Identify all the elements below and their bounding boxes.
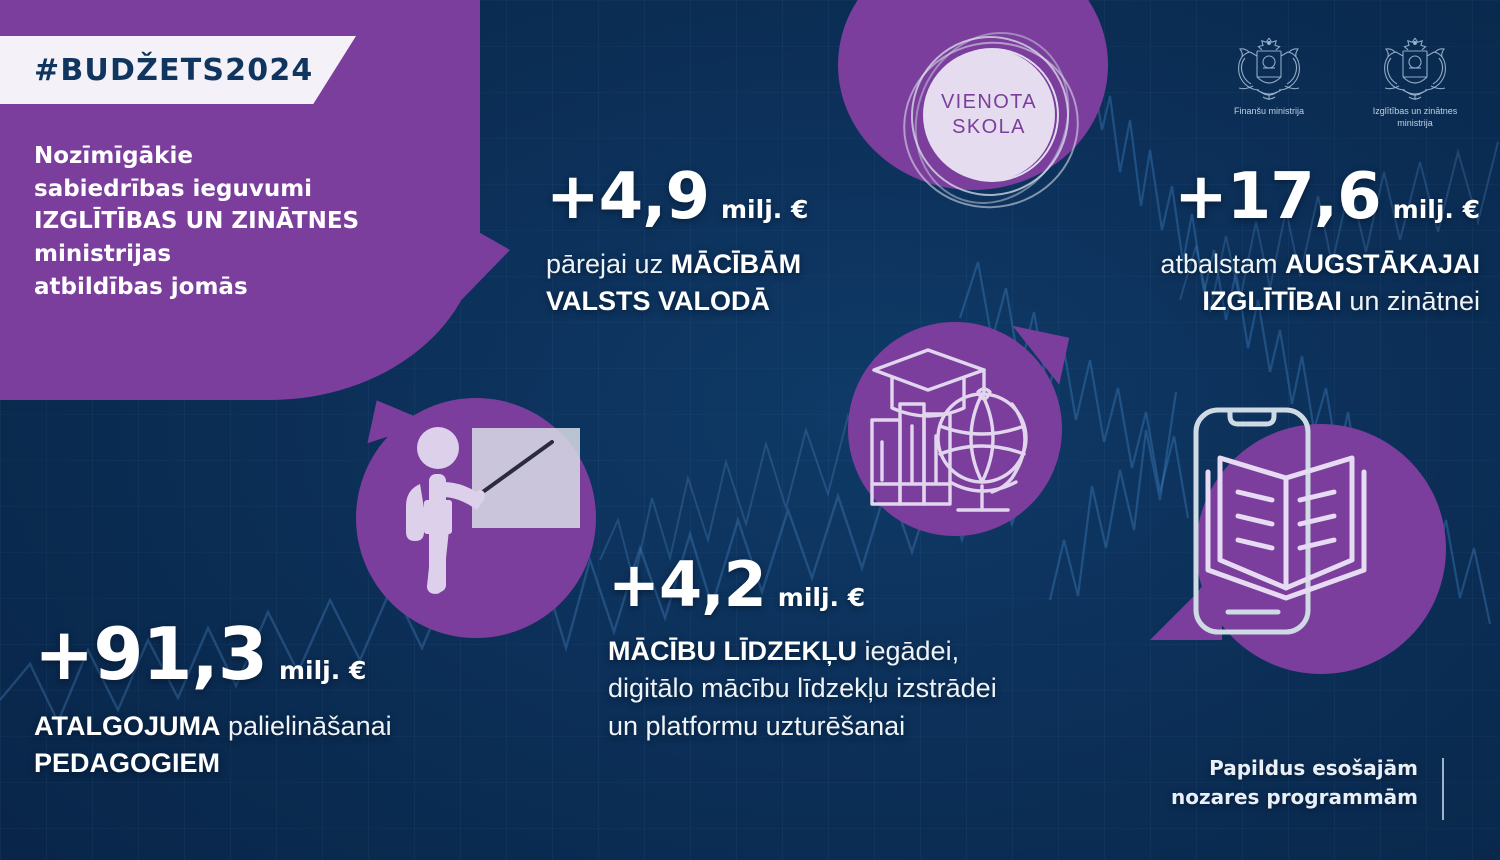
footnote-line-1: Papildus esošajām [1171,754,1418,783]
intro-line-2: sabiedrības ieguvumi [34,173,454,206]
intro-line-4: ministrijas [34,238,454,271]
stat-desc-line-2: digitālo mācību līdzekļu izstrādei [608,670,997,707]
stat-desc-plain: pārejai uz [546,249,671,279]
stat-desc-bold: ATALGOJUMA [34,711,220,741]
stat-desc-plain: iegādei, [857,636,959,666]
stat-amount: +4,9 [546,160,709,234]
stat-unit: milj. € [1393,195,1480,224]
intro-line-3: IZGLĪTĪBAS UN ZINĀTNES [34,205,454,238]
stat-description: pārejai uz MĀCĪBĀM VALSTS VALODĀ [546,246,808,321]
stat-unit: milj. € [721,195,808,224]
stat-desc-line-3: un platformu uzturēšanai [608,708,997,745]
stat-desc-line-1: pārejai uz MĀCĪBĀM [546,246,808,283]
stat-desc-plain: atbalstam [1160,249,1285,279]
stat-amount-row: +91,3 milj. € [34,612,392,696]
stat-desc-line-2: IZGLĪTĪBAI un zinātnei [1030,283,1480,320]
stat-desc-bold: MĀCĪBU LĪDZEKĻU [608,636,857,666]
stat-description: MĀCĪBU LĪDZEKĻU iegādei, digitālo mācību… [608,633,997,745]
intro-line-1: Nozīmīgākie [34,140,454,173]
digital-learning-phone-book-icon [1182,400,1392,650]
intro-text: Nozīmīgākie sabiedrības ieguvumi IZGLĪTĪ… [34,140,454,303]
stat-amount-row: +17,6 milj. € [1030,160,1480,234]
stat-description: ATALGOJUMA palielināšanai PEDAGOGIEM [34,708,392,783]
stat-desc-line-1: atbalstam AUGSTĀKAJAI [1030,246,1480,283]
stat-desc-bold: VALSTS VALODĀ [546,286,770,316]
hashtag-label: #BUDŽETS2024 [34,53,313,88]
logo-education-ministry: Izglītības un zinātnes ministrija [1360,34,1470,129]
stat-desc-plain: palielināšanai [220,711,391,741]
stat-desc-line-2: VALSTS VALODĀ [546,283,808,320]
stat-desc-bold: MĀCĪBĀM [671,249,801,279]
infographic-canvas: #BUDŽETS2024 Nozīmīgākie sabiedrības ieg… [0,0,1500,860]
latvia-coat-of-arms-icon [1373,34,1457,102]
stat-desc-bold: AUGSTĀKAJAI [1285,249,1480,279]
footnote-line-2: nozares programmām [1171,783,1418,812]
stat-unit: milj. € [279,656,366,685]
stat-amount-row: +4,9 milj. € [546,160,808,234]
stat-description: atbalstam AUGSTĀKAJAI IZGLĪTĪBAI un zinā… [1030,246,1480,321]
stat-amount-row: +4,2 milj. € [608,548,997,621]
teacher-icon [380,412,590,612]
stat-augstaka-izglitiba: +17,6 milj. € atbalstam AUGSTĀKAJAI IZGL… [1030,160,1480,321]
stat-amount: +17,6 [1174,160,1381,234]
ministry-logos: Finanšu ministrija [1214,34,1470,129]
stat-unit: milj. € [778,583,865,612]
stat-desc-bold: IZGLĪTĪBAI [1202,286,1341,316]
stat-macibu-lidzekli: +4,2 milj. € MĀCĪBU LĪDZEKĻU iegādei, di… [608,548,997,745]
logo-finance-ministry: Finanšu ministrija [1214,34,1324,129]
intro-line-5: atbildības jomās [34,271,454,304]
education-books-globe-icon [862,334,1052,524]
stat-amount: +91,3 [34,612,267,696]
stat-desc-plain: un zinātnei [1342,286,1480,316]
badge-line-1: VIENOTA [941,91,1037,114]
logo-caption: Finanšu ministrija [1214,106,1324,118]
stat-valsts-valoda: +4,9 milj. € pārejai uz MĀCĪBĀM VALSTS V… [546,160,808,321]
latvia-coat-of-arms-icon [1227,34,1311,102]
stat-desc-line-2: PEDAGOGIEM [34,745,392,782]
stat-desc-line-1: MĀCĪBU LĪDZEKĻU iegādei, [608,633,997,670]
stat-amount: +4,2 [608,548,766,621]
badge-line-2: SKOLA [952,116,1026,139]
hashtag-banner: #BUDŽETS2024 [0,36,356,104]
stat-desc-line-1: ATALGOJUMA palielināšanai [34,708,392,745]
stat-desc-bold: PEDAGOGIEM [34,748,220,778]
logo-caption: Izglītības un zinātnes ministrija [1360,106,1470,129]
stat-pedagogu-atalgojums: +91,3 milj. € ATALGOJUMA palielināšanai … [34,612,392,783]
footnote: Papildus esošajām nozares programmām [1171,754,1444,812]
